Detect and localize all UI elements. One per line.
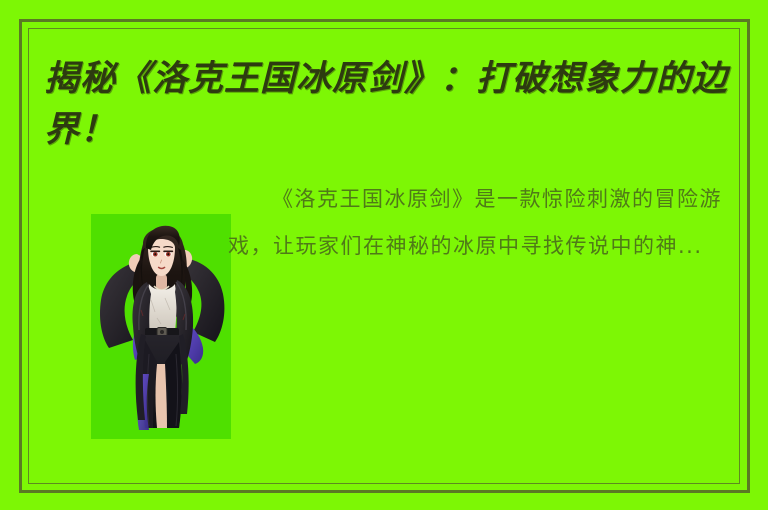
article-title: 揭秘《洛克王国冰原剑》：打破想象力的边界！ (44, 53, 734, 155)
article-card: 揭秘《洛克王国冰原剑》：打破想象力的边界！ (0, 0, 768, 510)
article-excerpt: 《洛克王国冰原剑》是一款惊险刺激的冒险游戏，让玩家们在神秘的冰原中寻找传说中的神… (228, 176, 734, 270)
anime-girl-illustration-graphic (91, 214, 231, 439)
anime-girl-illustration (91, 214, 231, 439)
article-body: 《洛克王国冰原剑》是一款惊险刺激的冒险游戏，让玩家们在神秘的冰原中寻找传说中的神… (44, 168, 734, 458)
